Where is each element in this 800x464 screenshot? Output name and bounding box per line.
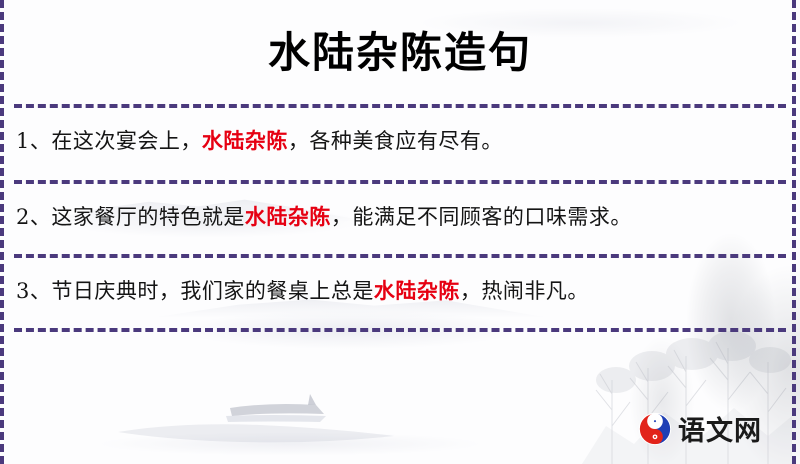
idiom-highlight-1: 水陆杂陈 <box>202 128 288 153</box>
sentence-number-2: 2、 <box>16 205 51 229</box>
sentence-worksheet-page: 水陆杂陈造句 1、在这次宴会上，水陆杂陈，各种美食应有尽有。 2、这家餐厅的特色… <box>0 0 800 464</box>
sentence-number-1: 1、 <box>16 129 51 153</box>
separator-dashed-4 <box>14 328 786 332</box>
sentence-text-before-2: 这家餐厅的特色就是 <box>51 205 245 229</box>
page-title: 水陆杂陈造句 <box>14 0 786 74</box>
sentence-item-1: 1、在这次宴会上，水陆杂陈，各种美食应有尽有。 <box>14 108 786 160</box>
idiom-highlight-3: 水陆杂陈 <box>374 278 460 303</box>
yinyang-circle-icon <box>638 412 672 446</box>
sentence-text-after-1: ，各种美食应有尽有。 <box>288 129 503 153</box>
sentence-text-before-1: 在这次宴会上， <box>51 129 202 153</box>
site-logo-text: 语文网 <box>678 409 762 448</box>
content-area: 水陆杂陈造句 1、在这次宴会上，水陆杂陈，各种美食应有尽有。 2、这家餐厅的特色… <box>0 0 800 464</box>
idiom-highlight-2: 水陆杂陈 <box>245 204 331 229</box>
sentence-text-before-3: 节日庆典时，我们家的餐桌上总是 <box>51 279 374 303</box>
sentence-item-2: 2、这家餐厅的特色就是水陆杂陈，能满足不同顾客的口味需求。 <box>14 184 786 236</box>
sentence-item-3: 3、节日庆典时，我们家的餐桌上总是水陆杂陈，热闹非凡。 <box>14 258 786 310</box>
site-logo[interactable]: 语文网 <box>638 409 762 448</box>
sentence-text-after-2: ，能满足不同顾客的口味需求。 <box>331 205 632 229</box>
sentence-number-3: 3、 <box>16 279 51 303</box>
sentence-text-after-3: ，热闹非凡。 <box>460 279 589 303</box>
